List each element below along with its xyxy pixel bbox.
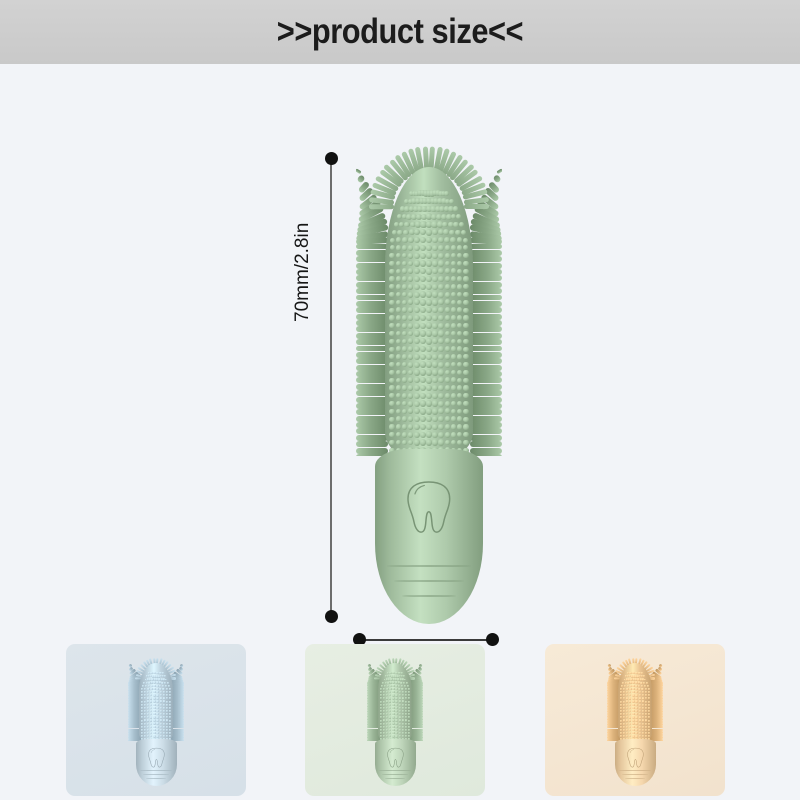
bristle-nub <box>160 719 162 721</box>
bristle-nub <box>414 385 420 391</box>
bristle-nub <box>156 707 158 709</box>
bristle-peg <box>470 365 502 371</box>
height-dimension-label: 70mm/2.8in <box>292 223 314 322</box>
bristle-nub <box>380 729 382 731</box>
bristle-peg <box>470 250 502 256</box>
bristle-peg <box>470 307 502 313</box>
bristle-nub <box>395 726 397 728</box>
bristle-nub <box>463 362 468 367</box>
bristle-nub <box>392 700 394 702</box>
bristle-nub <box>395 700 397 702</box>
bristle-nub <box>450 237 456 243</box>
bristle-nub <box>153 719 155 721</box>
bristle-nub <box>463 253 468 258</box>
bristle-nub <box>163 723 165 725</box>
bristle-nub <box>156 700 158 702</box>
bristle-nub <box>635 729 637 731</box>
bristle-nub <box>141 723 143 725</box>
bristle-nub <box>156 694 158 696</box>
bristle-peg <box>470 422 502 428</box>
bristle-nub <box>380 704 382 706</box>
bristle-nub <box>438 401 444 407</box>
bristle-nub <box>163 726 165 728</box>
bristle-nub <box>141 701 143 703</box>
bristle-nub <box>399 700 401 702</box>
bristle-nub <box>642 707 644 709</box>
bristle-nub <box>392 707 394 709</box>
bristle-nub <box>635 697 637 699</box>
bristle-peg <box>470 346 502 352</box>
bristle-nub <box>386 700 388 702</box>
bristle-nub <box>402 432 408 438</box>
bristle-nub <box>438 260 444 266</box>
bristle-nub <box>414 307 420 313</box>
bristle-nub <box>414 253 420 259</box>
bristle-nub <box>380 701 382 703</box>
bristle-nub <box>166 688 168 690</box>
bristle-peg <box>356 403 388 409</box>
bristle-nub <box>463 238 468 243</box>
bristle-peg <box>356 333 388 339</box>
bristle-nub <box>408 354 414 360</box>
bristle-nub <box>386 719 388 721</box>
bristle-nub <box>399 716 401 718</box>
bristle-nub <box>163 700 165 702</box>
bristle-nub <box>380 726 382 728</box>
bristle-nub <box>392 729 394 731</box>
bristle-nub <box>389 276 394 281</box>
bristle-nub <box>147 697 149 699</box>
bristle-nub <box>402 315 408 321</box>
bristle-nub <box>457 237 462 242</box>
bristle-nub <box>463 269 468 274</box>
bristle-nub <box>141 720 143 722</box>
bristle-nub <box>390 238 395 243</box>
bristle-nub <box>632 700 634 702</box>
bristle-nub <box>402 323 408 329</box>
bristle-peg <box>356 256 388 262</box>
bristle-nub <box>644 685 646 687</box>
bristle-nub <box>623 729 625 731</box>
bristle-nub <box>396 440 401 445</box>
variant-card-blue[interactable] <box>66 644 246 796</box>
bristle-nub <box>402 707 404 709</box>
bristle-nub <box>156 716 158 718</box>
bristle-nub <box>645 688 647 690</box>
bristle-nub <box>438 369 444 375</box>
bristle-nub <box>153 707 155 709</box>
bristle-nub <box>632 726 634 728</box>
bristle-nub <box>445 292 451 298</box>
bristle-nub <box>445 401 451 407</box>
bristle-peg <box>470 390 502 396</box>
bristle-nub <box>408 401 414 407</box>
bristle-peg <box>356 377 388 383</box>
bristle-nub <box>402 346 408 352</box>
bristle-nub <box>620 720 622 722</box>
bristle-nub <box>169 701 171 703</box>
bristle-nub <box>144 704 146 706</box>
bristle-peg <box>356 314 388 320</box>
bristle-nub <box>383 729 385 731</box>
bristle-nub <box>401 688 403 690</box>
bristle-nub <box>445 362 451 368</box>
bristle-nub <box>642 700 644 702</box>
bristle-nub <box>141 726 143 728</box>
bristle-nub <box>639 726 641 728</box>
bristle-nub <box>387 685 389 687</box>
tooth-icon <box>147 747 166 768</box>
bristle-peg <box>356 416 388 422</box>
bristle-nub <box>144 723 146 725</box>
bristle-nub <box>635 704 637 706</box>
bristle-nub <box>153 722 155 724</box>
product-image-main <box>356 150 502 624</box>
bristle-nub <box>463 261 468 266</box>
bristle-nub <box>380 732 382 734</box>
bristle-nub <box>414 401 420 407</box>
bristle-nub <box>623 719 625 721</box>
bristle-peg <box>356 409 388 415</box>
bristle-nub <box>402 726 404 728</box>
bristle-peg <box>356 448 388 454</box>
bristle-nub <box>408 701 410 703</box>
bristle-nub <box>405 704 407 706</box>
bristle-nub <box>147 688 149 690</box>
bristle-nub <box>168 685 170 687</box>
bristle-peg <box>470 256 502 262</box>
bristle-nub <box>389 315 394 320</box>
bristle-nub <box>620 707 622 709</box>
bristle-nub <box>632 735 634 737</box>
bristle-nub <box>156 722 158 724</box>
bristle-nub <box>159 688 161 690</box>
bristle-nub <box>445 354 451 360</box>
bristle-nub <box>386 704 388 706</box>
bristle-nub <box>141 729 143 731</box>
bristle-nub <box>396 300 401 305</box>
bristle-nub <box>383 726 385 728</box>
bristle-nub <box>645 726 647 728</box>
bristle-nub <box>399 723 401 725</box>
bristle-peg <box>470 397 502 403</box>
bristle-nub <box>169 688 171 690</box>
bristle-nub <box>389 323 394 328</box>
bristle-nub <box>392 697 394 699</box>
bristle-peg <box>356 339 388 345</box>
bristle-nub <box>141 691 143 693</box>
bristle-nub <box>399 726 401 728</box>
bristle-nub <box>399 697 401 699</box>
bristle-nub <box>163 697 165 699</box>
bristle-nub <box>156 735 158 737</box>
bristle-nub <box>402 307 408 313</box>
bristle-nub <box>626 719 628 721</box>
bristle-nub <box>148 685 150 687</box>
bristle-nub <box>648 720 650 722</box>
bristle-nub <box>641 688 643 690</box>
bristle-nub <box>463 432 468 437</box>
bristle-nub <box>383 710 385 712</box>
bristle-nub <box>389 393 394 398</box>
bristle-nub <box>414 346 420 352</box>
bristle-nub <box>166 726 168 728</box>
bristle-nub <box>438 439 444 445</box>
bristle-nub <box>141 713 143 715</box>
bristle-nub <box>463 440 468 445</box>
bristle-peg <box>470 339 502 345</box>
bristle-nub <box>141 710 143 712</box>
bristle-nub <box>414 439 420 445</box>
bristle-nub <box>383 704 385 706</box>
bristle-nub <box>396 385 401 390</box>
bristle-nub <box>645 719 647 721</box>
bristle-nub <box>635 726 637 728</box>
bristle-peg <box>470 275 502 281</box>
bristle-nub <box>169 720 171 722</box>
height-dimension-line <box>330 158 332 616</box>
bristle-nub <box>403 230 409 236</box>
bristle-nub <box>389 308 394 313</box>
bristle-nub <box>389 284 394 289</box>
variant-card-green[interactable] <box>305 644 485 796</box>
bristle-nub <box>414 416 420 422</box>
bristle-nub <box>408 688 410 690</box>
bristle-nub <box>414 362 420 368</box>
bristle-nub <box>389 440 394 445</box>
bristle-nub <box>386 723 388 725</box>
bristle-nub <box>414 315 420 321</box>
bristle-nub <box>402 723 404 725</box>
bristle-peg <box>470 333 502 339</box>
bristle-nub <box>145 685 147 687</box>
bristle-nub <box>463 339 468 344</box>
bristle-nub <box>463 315 468 320</box>
bristle-nub <box>444 191 449 196</box>
bristle-nub <box>463 424 468 429</box>
bristle-peg <box>470 403 502 409</box>
bristle-nub <box>167 682 169 684</box>
bristle-nub <box>164 682 166 684</box>
bristle-nub <box>451 393 457 399</box>
bristle-nub <box>646 682 648 684</box>
bristle-nub <box>414 369 420 375</box>
bristle-peg <box>356 295 388 301</box>
bristle-nub <box>153 729 155 731</box>
bristle-nub <box>396 245 401 250</box>
bristle-nub <box>453 206 458 211</box>
bristle-nub <box>147 704 149 706</box>
bristle-nub <box>408 253 414 259</box>
bristle-peg <box>356 288 388 294</box>
bristle-nub <box>414 292 420 298</box>
bristle-nub <box>380 723 382 725</box>
bristle-nub <box>445 424 451 430</box>
bristle-nub <box>395 729 397 731</box>
bristle-nub <box>632 694 634 696</box>
bristle-nub <box>402 393 408 399</box>
bristle-nub <box>389 378 394 383</box>
bristle-nub <box>635 700 637 702</box>
width-dimension-line <box>360 639 493 641</box>
bristle-nub <box>166 719 168 721</box>
bristle-nub <box>463 331 468 336</box>
bristle-nub <box>402 697 404 699</box>
bristle-nub <box>386 697 388 699</box>
bristle-peg <box>356 326 388 332</box>
bristle-nub <box>402 416 408 422</box>
bristle-nub <box>396 261 401 266</box>
bristle-nub <box>383 707 385 709</box>
bristle-nub <box>160 700 162 702</box>
bristle-nub <box>445 315 451 321</box>
bristle-nub <box>451 245 457 251</box>
bristle-nub <box>408 720 410 722</box>
bristle-nub <box>160 726 162 728</box>
bristle-nub <box>402 276 408 282</box>
bristle-nub <box>396 307 401 312</box>
bristle-peg <box>470 352 502 358</box>
bristle-nub <box>639 700 641 702</box>
bristle-nub <box>396 346 401 351</box>
bristle-peg <box>356 275 388 281</box>
tooth-icon <box>626 747 645 768</box>
bristle-nub <box>457 284 462 289</box>
bristle-nub <box>380 713 382 715</box>
bristle-nub <box>624 685 626 687</box>
bristle-nub <box>156 697 158 699</box>
bristle-peg <box>470 295 502 301</box>
bristle-nub <box>639 723 641 725</box>
bristle-nub <box>405 723 407 725</box>
bristle-nub <box>160 723 162 725</box>
bristle-nub <box>389 370 394 375</box>
bristle-nub <box>396 370 401 375</box>
bristle-nub <box>620 704 622 706</box>
bristle-nub <box>463 308 468 313</box>
bristle-nub <box>463 370 468 375</box>
bristle-nub <box>451 323 457 329</box>
bristle-nub <box>384 685 386 687</box>
height-marker-top-icon <box>325 152 338 165</box>
bristle-nub <box>414 377 420 383</box>
bristle-nub <box>647 685 649 687</box>
bristle-nub <box>463 378 468 383</box>
bristle-nub <box>402 700 404 702</box>
bristle-nub <box>463 409 468 414</box>
bristle-nub <box>141 732 143 734</box>
bristle-nub <box>620 701 622 703</box>
bristle-nub <box>144 726 146 728</box>
bristle-nub <box>623 726 625 728</box>
bristle-nub <box>163 704 165 706</box>
bristle-nub <box>451 432 457 438</box>
bristle-peg <box>356 346 388 352</box>
bristle-nub <box>623 704 625 706</box>
bristle-nub <box>397 230 402 235</box>
bristle-nub <box>623 707 625 709</box>
bristle-nub <box>396 416 401 421</box>
bristle-peg <box>470 384 502 390</box>
bristle-peg <box>470 244 502 250</box>
bristle-nub <box>392 694 394 696</box>
bristle-nub <box>620 710 622 712</box>
bristle-nub <box>635 716 637 718</box>
bristle-nub <box>449 230 455 236</box>
bristle-nub <box>451 354 457 360</box>
bristle-nub <box>402 377 408 383</box>
bristle-nub <box>396 276 401 281</box>
bristle-nub <box>163 707 165 709</box>
bristle-nub <box>156 726 158 728</box>
bristle-peg <box>356 384 388 390</box>
bristle-peg <box>356 390 388 396</box>
bristle-nub <box>408 393 414 399</box>
bristle-nub <box>639 697 641 699</box>
bristle-nub <box>620 732 622 734</box>
bristle-nub <box>639 716 641 718</box>
bristle-nub <box>463 347 468 352</box>
bristle-nub <box>635 707 637 709</box>
bristle-nub <box>414 260 420 266</box>
bristle-nub <box>414 284 420 290</box>
bristle-nub <box>389 300 394 305</box>
bristle-nub <box>408 323 414 329</box>
bristle-nub <box>153 726 155 728</box>
bristle-peg <box>470 416 502 422</box>
bristle-nub <box>396 315 401 320</box>
bristle-peg <box>470 320 502 326</box>
bristle-nub <box>626 700 628 702</box>
bristle-nub <box>445 323 451 329</box>
bristle-nub <box>389 339 394 344</box>
bristle-nub <box>648 701 650 703</box>
bristle-peg <box>356 282 388 288</box>
bristle-nub <box>395 735 397 737</box>
bristle-nub <box>380 720 382 722</box>
bristle-nub <box>408 284 414 290</box>
bristle-nub <box>392 722 394 724</box>
bristle-nub <box>463 323 468 328</box>
bristle-nub <box>380 710 382 712</box>
bristle-nub <box>144 729 146 731</box>
bristle-nub <box>627 685 629 687</box>
bristle-nub <box>389 417 394 422</box>
bristle-peg <box>470 288 502 294</box>
bristle-nub <box>463 292 468 297</box>
bristle-nub <box>153 704 155 706</box>
bristle-nub <box>389 261 394 266</box>
bristle-nub <box>414 330 420 336</box>
bristle-nub <box>623 710 625 712</box>
bristle-nub <box>639 719 641 721</box>
bristle-nub <box>635 694 637 696</box>
bristle-nub <box>414 432 420 438</box>
bristle-nub <box>632 716 634 718</box>
bristle-nub <box>392 726 394 728</box>
bristle-nub <box>645 701 647 703</box>
bristle-nub <box>402 719 404 721</box>
bristle-peg <box>470 269 502 275</box>
bristle-nub <box>162 672 164 674</box>
bristle-nub <box>402 385 408 391</box>
bristle-nub <box>153 694 155 696</box>
bristle-nub <box>389 331 394 336</box>
bristle-nub <box>395 704 397 706</box>
bristle-nub <box>463 354 468 359</box>
variant-card-orange[interactable] <box>545 644 725 796</box>
bristle-nub <box>392 704 394 706</box>
